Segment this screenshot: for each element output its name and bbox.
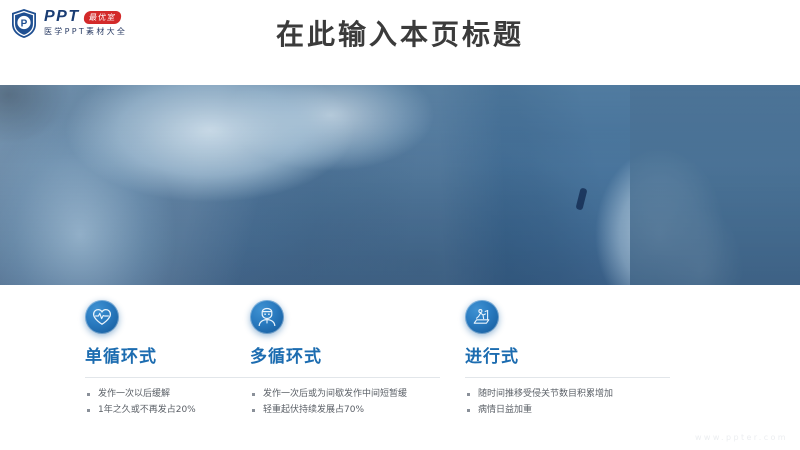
page-title: 在此输入本页标题 [0,18,800,52]
feature-bullet-list: 发作一次后或为间歇发作中间短暂缓 轻重起伏持续发展占70% [250,386,451,418]
feature-column-1[interactable]: 单循环式 发作一次以后缓解 1年之久或不再发占20% [0,300,230,418]
feature-divider [465,377,670,378]
feature-divider [250,377,440,378]
feature-bullet-list: 随时间推移受侵关节数目积累增加 病情日益加重 [465,386,786,418]
list-item: 发作一次以后缓解 [85,386,216,402]
list-item: 轻重起伏持续发展占70% [250,402,451,418]
list-item: 随时间推移受侵关节数目积累增加 [465,386,786,402]
feature-title: 多循环式 [250,346,451,368]
feature-title: 进行式 [465,346,786,368]
heart-pulse-icon [85,300,119,334]
list-item: 病情日益加重 [465,402,786,418]
feature-column-3[interactable]: 进行式 随时间推移受侵关节数目积累增加 病情日益加重 [465,300,800,418]
feature-title: 单循环式 [85,346,216,368]
feature-columns: 单循环式 发作一次以后缓解 1年之久或不再发占20% 多循环式 [0,300,800,418]
list-item: 发作一次后或为间歇发作中间短暂缓 [250,386,451,402]
feature-bullet-list: 发作一次以后缓解 1年之久或不再发占20% [85,386,216,418]
slide-canvas: P PPT 最优室 医学PPT素材大全 在此输入本页标题 [0,0,800,450]
site-watermark: www.ppter.com [695,433,788,442]
treadmill-icon [465,300,499,334]
list-item: 1年之久或不再发占20% [85,402,216,418]
hero-blue-tint-overlay [0,85,800,285]
feature-column-2[interactable]: 多循环式 发作一次后或为间歇发作中间短暂缓 轻重起伏持续发展占70% [230,300,465,418]
doctor-person-icon [250,300,284,334]
hero-image [0,85,800,285]
